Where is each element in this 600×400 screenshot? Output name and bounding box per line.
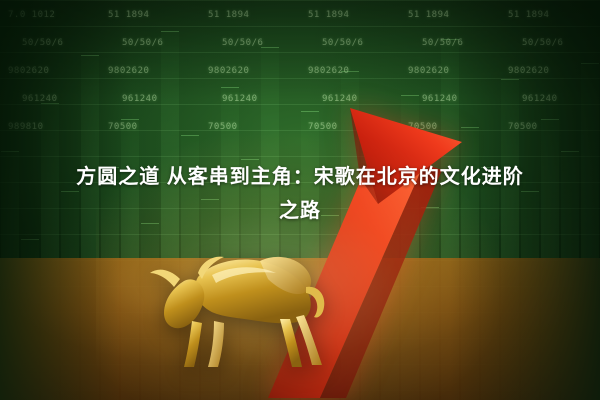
headline-line-2: 之路: [18, 194, 582, 228]
golden-bull-statue-icon: [140, 225, 350, 375]
floor-left-shadow: [0, 258, 120, 400]
stock-market-banner-image: 7.0 101251 189451 189451 189451 189451 1…: [0, 0, 600, 400]
headline-line-1: 方圆之道 从客串到主角：宋歌在北京的文化进阶: [18, 160, 582, 194]
headline-text: 方圆之道 从客串到主角：宋歌在北京的文化进阶 之路: [0, 160, 600, 228]
